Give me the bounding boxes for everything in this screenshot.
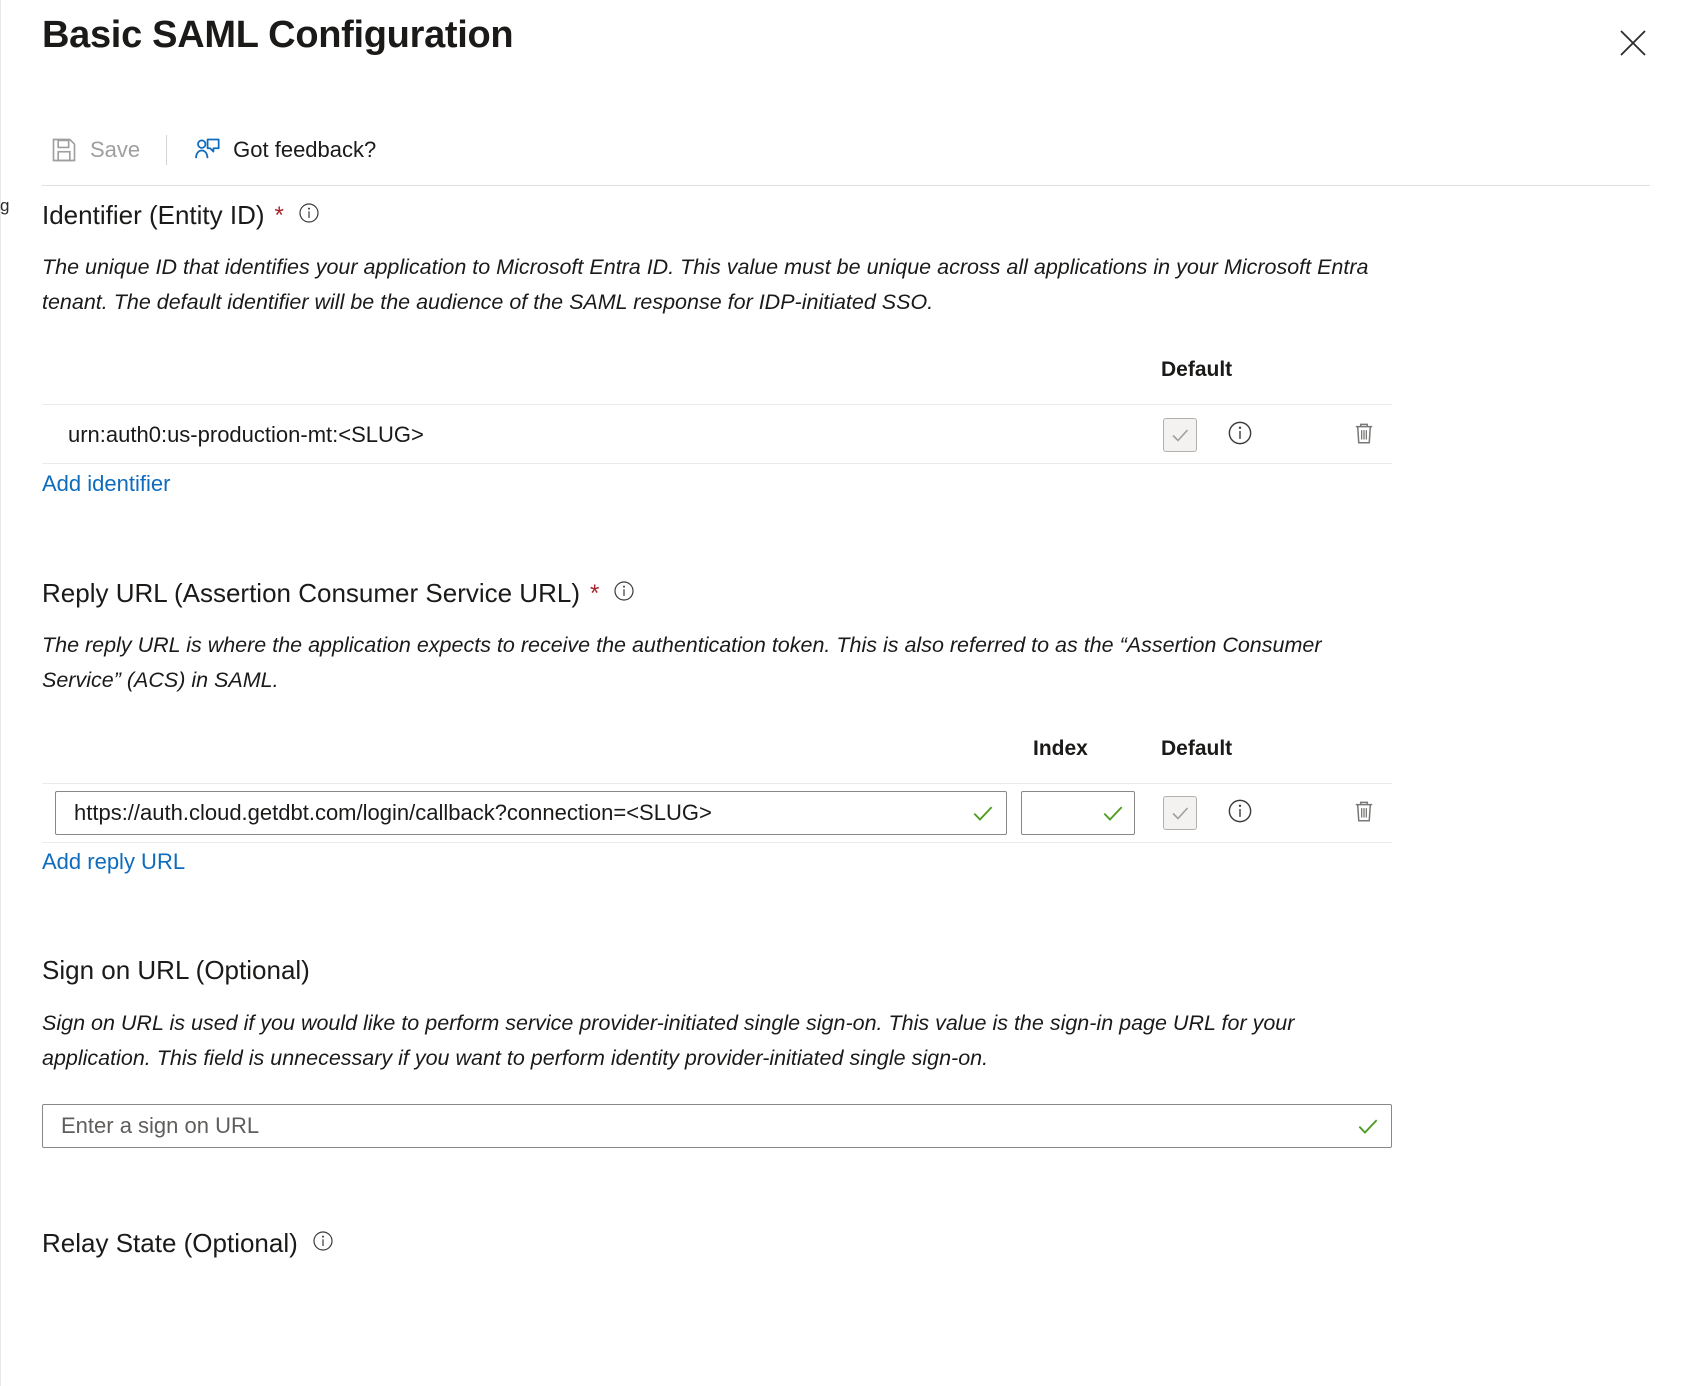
reply-url-index-input[interactable] xyxy=(1021,791,1135,835)
command-bar-divider xyxy=(166,135,167,165)
close-button[interactable] xyxy=(1612,22,1654,64)
sign-on-url-description: Sign on URL is used if you would like to… xyxy=(42,1006,1372,1077)
identifier-row-top-divider xyxy=(42,404,1392,405)
trash-icon xyxy=(1350,797,1378,830)
green-check-icon xyxy=(962,800,996,826)
reply-url-default-column-header: Default xyxy=(1161,737,1232,761)
sign-on-url-section-heading: Sign on URL (Optional) xyxy=(42,955,310,986)
basic-saml-configuration-panel: g Basic SAML Configuration Save xyxy=(0,0,1692,1386)
reply-url-info-icon[interactable] xyxy=(1223,796,1257,830)
identifier-description: The unique ID that identifies your appli… xyxy=(42,250,1372,321)
add-reply-url-link[interactable]: Add reply URL xyxy=(42,849,185,875)
reply-url-section-heading: Reply URL (Assertion Consumer Service UR… xyxy=(42,578,635,609)
sign-on-url-placeholder: Enter a sign on URL xyxy=(61,1113,1347,1139)
identifier-info-icon[interactable] xyxy=(1223,418,1257,452)
reply-url-index-column-header: Index xyxy=(1033,737,1088,761)
save-button-label: Save xyxy=(90,137,140,163)
checkmark-icon xyxy=(1169,424,1191,446)
info-icon xyxy=(1227,420,1253,451)
add-identifier-link[interactable]: Add identifier xyxy=(42,471,170,497)
reply-url-input[interactable]: https://auth.cloud.getdbt.com/login/call… xyxy=(55,791,1007,835)
got-feedback-label: Got feedback? xyxy=(233,137,376,163)
command-bar: Save Got feedback? xyxy=(42,128,384,172)
got-feedback-button[interactable]: Got feedback? xyxy=(185,128,384,172)
info-icon xyxy=(1227,798,1253,829)
identifier-label: Identifier (Entity ID) xyxy=(42,200,265,231)
relay-state-label: Relay State (Optional) xyxy=(42,1228,298,1259)
reply-url-required-marker: * xyxy=(590,582,599,606)
identifier-delete-button[interactable] xyxy=(1347,418,1381,452)
sign-on-url-label: Sign on URL (Optional) xyxy=(42,955,310,986)
green-check-icon xyxy=(1092,800,1126,826)
reply-url-input-value: https://auth.cloud.getdbt.com/login/call… xyxy=(74,800,962,826)
left-edge-glyph: g xyxy=(0,196,9,216)
save-floppy-icon xyxy=(50,136,78,164)
reply-url-row-bottom-divider xyxy=(42,842,1392,843)
relay-state-section-heading: Relay State (Optional) xyxy=(42,1228,334,1259)
reply-url-default-checkbox[interactable] xyxy=(1163,796,1197,830)
reply-url-row-top-divider xyxy=(42,783,1392,784)
save-button[interactable]: Save xyxy=(42,128,148,172)
identifier-row-bottom-divider xyxy=(42,463,1392,464)
reply-url-label: Reply URL (Assertion Consumer Service UR… xyxy=(42,578,580,609)
reply-url-description: The reply URL is where the application e… xyxy=(42,628,1362,699)
info-icon[interactable] xyxy=(298,200,320,231)
sign-on-url-input[interactable]: Enter a sign on URL xyxy=(42,1104,1392,1148)
close-icon xyxy=(1618,28,1648,58)
identifier-default-column-header: Default xyxy=(1161,358,1232,382)
checkmark-icon xyxy=(1169,802,1191,824)
feedback-person-icon xyxy=(193,136,221,164)
command-bar-bottom-divider xyxy=(42,185,1650,186)
identifier-section-heading: Identifier (Entity ID) * xyxy=(42,200,320,231)
info-icon[interactable] xyxy=(312,1228,334,1259)
trash-icon xyxy=(1350,419,1378,452)
identifier-required-marker: * xyxy=(275,204,284,228)
green-check-icon xyxy=(1347,1113,1381,1139)
page-title: Basic SAML Configuration xyxy=(42,14,513,57)
reply-url-delete-button[interactable] xyxy=(1347,796,1381,830)
info-icon[interactable] xyxy=(613,578,635,609)
identifier-value: urn:auth0:us-production-mt:<SLUG> xyxy=(68,422,424,448)
identifier-default-checkbox[interactable] xyxy=(1163,418,1197,452)
